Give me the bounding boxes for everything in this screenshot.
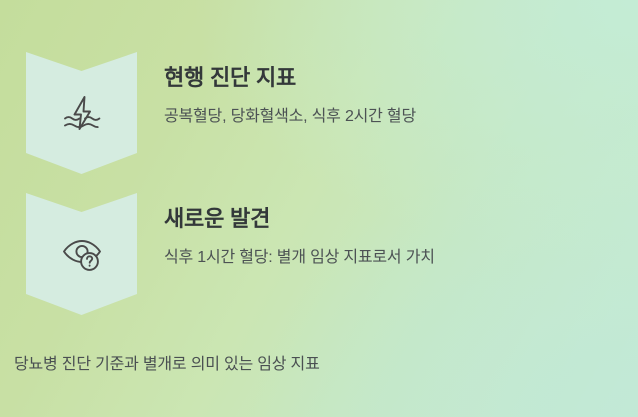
card-title: 현행 진단 지표 — [164, 66, 416, 90]
icon-badge — [26, 52, 137, 174]
card-text-block: 현행 진단 지표 공복혈당, 당화혈색소, 식후 2시간 혈당 — [164, 52, 416, 126]
card-subtitle: 식후 1시간 혈당: 별개 임상 지표로서 가치 — [164, 248, 435, 267]
eye-question-icon — [26, 193, 137, 315]
card-text-block: 새로운 발견 식후 1시간 혈당: 별개 임상 지표로서 가치 — [164, 193, 435, 267]
card-subtitle: 공복혈당, 당화혈색소, 식후 2시간 혈당 — [164, 107, 416, 126]
info-card-new-finding: 새로운 발견 식후 1시간 혈당: 별개 임상 지표로서 가치 — [26, 193, 435, 315]
icon-badge — [26, 193, 137, 315]
info-card-current-indicators: 현행 진단 지표 공복혈당, 당화혈색소, 식후 2시간 혈당 — [26, 52, 416, 174]
lightning-waves-icon — [26, 52, 137, 174]
infographic-canvas: 현행 진단 지표 공복혈당, 당화혈색소, 식후 2시간 혈당 새로운 발견 — [0, 0, 638, 417]
card-title: 새로운 발견 — [164, 207, 435, 231]
footer-note: 당뇨병 진단 기준과 별개로 의미 있는 임상 지표 — [14, 350, 320, 374]
